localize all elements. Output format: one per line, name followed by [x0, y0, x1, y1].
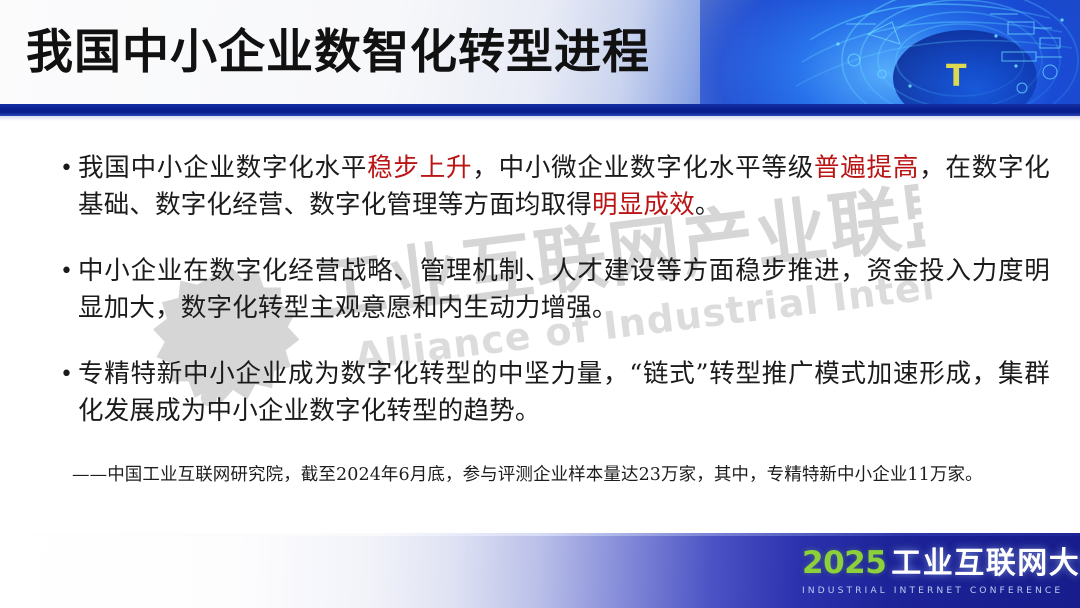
bullet-marker: •: [60, 253, 78, 277]
conference-logo-main: 2025 工业互联网大会: [802, 548, 1052, 579]
footer-band-top-edge: [0, 533, 1080, 536]
bullet-segment-highlight: 普遍提高: [814, 153, 919, 183]
slide-header-banner: T 我国中小企业数智化转型进程: [0, 0, 1080, 104]
bullet-text-3: 专精特新中小企业成为数字化转型的中坚力量，“链式”转型推广模式加速形成，集群化发…: [78, 356, 1050, 430]
list-item: • 中小企业在数字化经营战略、管理机制、人才建设等方面稳步推进，资金投入力度明显…: [60, 253, 1050, 327]
list-item: • 专精特新中小企业成为数字化转型的中坚力量，“链式”转型推广模式加速形成，集群…: [60, 356, 1050, 430]
bullet-segment-highlight: 稳步上升: [367, 153, 472, 183]
bullet-segment: 专精特新中小企业成为数字化转型的中坚力量，“链式”转型推广模式加速形成，集群化发…: [78, 359, 1050, 426]
bullet-list: • 我国中小企业数字化水平稳步上升，中小微企业数字化水平等级普遍提高，在数字化基…: [60, 150, 1050, 459]
list-item: • 我国中小企业数字化水平稳步上升，中小微企业数字化水平等级普遍提高，在数字化基…: [60, 150, 1050, 224]
bullet-marker: •: [60, 150, 78, 174]
tech-globe-circuit-graphic: T: [750, 0, 1080, 104]
bullet-text-2: 中小企业在数字化经营战略、管理机制、人才建设等方面稳步推进，资金投入力度明显加大…: [78, 253, 1050, 327]
source-footnote: ——中国工业互联网研究院，截至2024年6月底，参与评测企业样本量达23万家，其…: [72, 462, 1072, 488]
conference-logo-cn: 工业互联网大会: [891, 549, 1080, 579]
bullet-segment: ，中小微企业数字化水平等级: [472, 153, 814, 183]
slide-canvas: T 我国中小企业数智化转型进程 工业互联网产业联盟 Alliance of: [0, 0, 1080, 608]
svg-text:T: T: [946, 59, 967, 94]
conference-logo-en: INDUSTRIAL INTERNET CONFERENCE: [802, 585, 1052, 596]
title-divider-bar: [0, 104, 1080, 116]
bullet-marker: •: [60, 356, 78, 380]
bullet-text-1: 我国中小企业数字化水平稳步上升，中小微企业数字化水平等级普遍提高，在数字化基础、…: [78, 150, 1050, 224]
bullet-segment: 。: [695, 190, 721, 220]
bullet-segment-highlight: 明显成效: [592, 190, 695, 220]
bullet-segment: 我国中小企业数字化水平: [78, 153, 367, 183]
bullet-segment: 中小企业在数字化经营战略、管理机制、人才建设等方面稳步推进，资金投入力度明显加大…: [78, 256, 1050, 323]
page-title: 我国中小企业数智化转型进程: [26, 22, 650, 84]
title-divider-shadow: [0, 116, 1080, 121]
conference-logo-year: 2025: [802, 548, 886, 579]
conference-logo: 2025 工业互联网大会 INDUSTRIAL INTERNET CONFERE…: [802, 548, 1052, 596]
